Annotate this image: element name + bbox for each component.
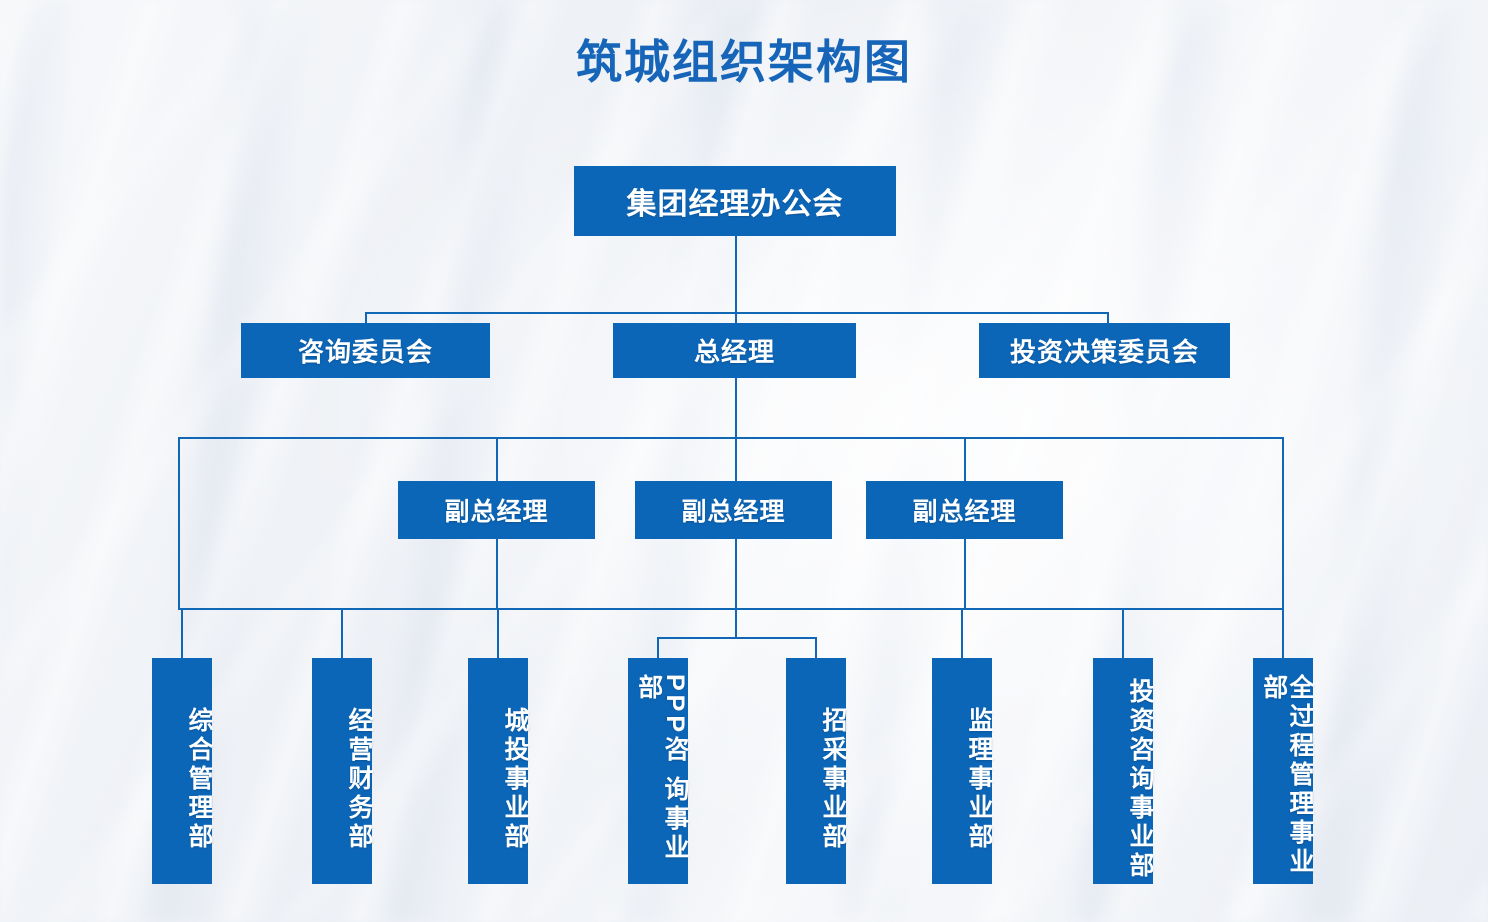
connector-deputy-3-down	[964, 539, 966, 609]
connector-to-deputy-1	[496, 437, 498, 481]
node-investment-decision-committee[interactable]: 投资决策委员会	[979, 323, 1230, 378]
org-chart-canvas: 筑城组织架构图 集团经理办公会 咨询委员会 总经理 投资决策委员会	[0, 0, 1488, 922]
connector-to-investment	[1107, 312, 1109, 323]
connector-root-down	[735, 236, 737, 313]
node-deputy-manager-3[interactable]: 副总经理	[866, 481, 1063, 539]
node-advisory-committee[interactable]: 咨询委员会	[241, 323, 490, 378]
node-general-manager[interactable]: 总经理	[613, 323, 856, 378]
node-dept-investment-consulting[interactable]: 投资咨询事业部	[1093, 658, 1153, 884]
connector-to-gm	[735, 312, 737, 323]
node-deputy-manager-1[interactable]: 副总经理	[398, 481, 595, 539]
connector-to-dept-7	[1122, 608, 1124, 658]
connector-deputy-2-down	[735, 539, 737, 638]
connector-subbridge	[657, 637, 817, 639]
node-label: 城投事业部	[502, 707, 528, 852]
connector-to-dept-3	[497, 608, 499, 658]
node-label: 经营财务部	[346, 707, 372, 852]
page-title: 筑城组织架构图	[0, 26, 1488, 92]
node-label: 集团经理办公会	[627, 179, 844, 223]
node-label: 总经理	[694, 332, 775, 369]
connector-bus-level3	[178, 437, 1284, 439]
connector-bus-level2	[365, 312, 1109, 314]
node-label: 全过程管理事业部	[1261, 674, 1314, 884]
node-label: 投资决策委员会	[1010, 332, 1199, 369]
connector-to-dept-6	[961, 608, 963, 658]
node-label: 咨询委员会	[298, 332, 433, 369]
node-label: 综合管理部	[186, 707, 212, 852]
connector-rail-left	[178, 437, 180, 609]
connector-to-advisory	[365, 312, 367, 323]
connector-to-deputy-3	[964, 437, 966, 481]
node-dept-ppp-consulting[interactable]: PPP咨 询事业部	[628, 658, 688, 884]
node-dept-general-management[interactable]: 综合管理部	[152, 658, 212, 884]
node-label: 副总经理	[444, 492, 548, 528]
connector-deputy-1-down	[496, 539, 498, 609]
node-dept-operations-finance[interactable]: 经营财务部	[312, 658, 372, 884]
connector-to-dept-1	[181, 608, 183, 658]
node-label: PPP咨 询事业部	[636, 674, 689, 884]
node-label: 监理事业部	[966, 707, 992, 852]
connector-bus-level4	[178, 608, 1284, 610]
connector-gm-down	[735, 378, 737, 438]
connector-to-dept-4	[657, 637, 659, 658]
node-label: 投资咨询事业部	[1127, 678, 1153, 881]
connector-to-dept-8	[1282, 608, 1284, 658]
node-dept-urban-investment[interactable]: 城投事业部	[468, 658, 528, 884]
node-label: 副总经理	[681, 492, 785, 528]
node-dept-bidding-procurement[interactable]: 招采事业部	[786, 658, 846, 884]
node-label: 招采事业部	[820, 707, 846, 852]
connector-to-deputy-2	[735, 437, 737, 481]
node-dept-whole-process-management[interactable]: 全过程管理事业部	[1253, 658, 1313, 884]
node-group-manager-office[interactable]: 集团经理办公会	[574, 166, 896, 236]
node-dept-supervision[interactable]: 监理事业部	[932, 658, 992, 884]
connector-rail-right	[1282, 437, 1284, 609]
connector-to-dept-2	[341, 608, 343, 658]
node-label: 副总经理	[912, 492, 1016, 528]
connector-to-dept-5	[815, 637, 817, 658]
node-deputy-manager-2[interactable]: 副总经理	[635, 481, 832, 539]
